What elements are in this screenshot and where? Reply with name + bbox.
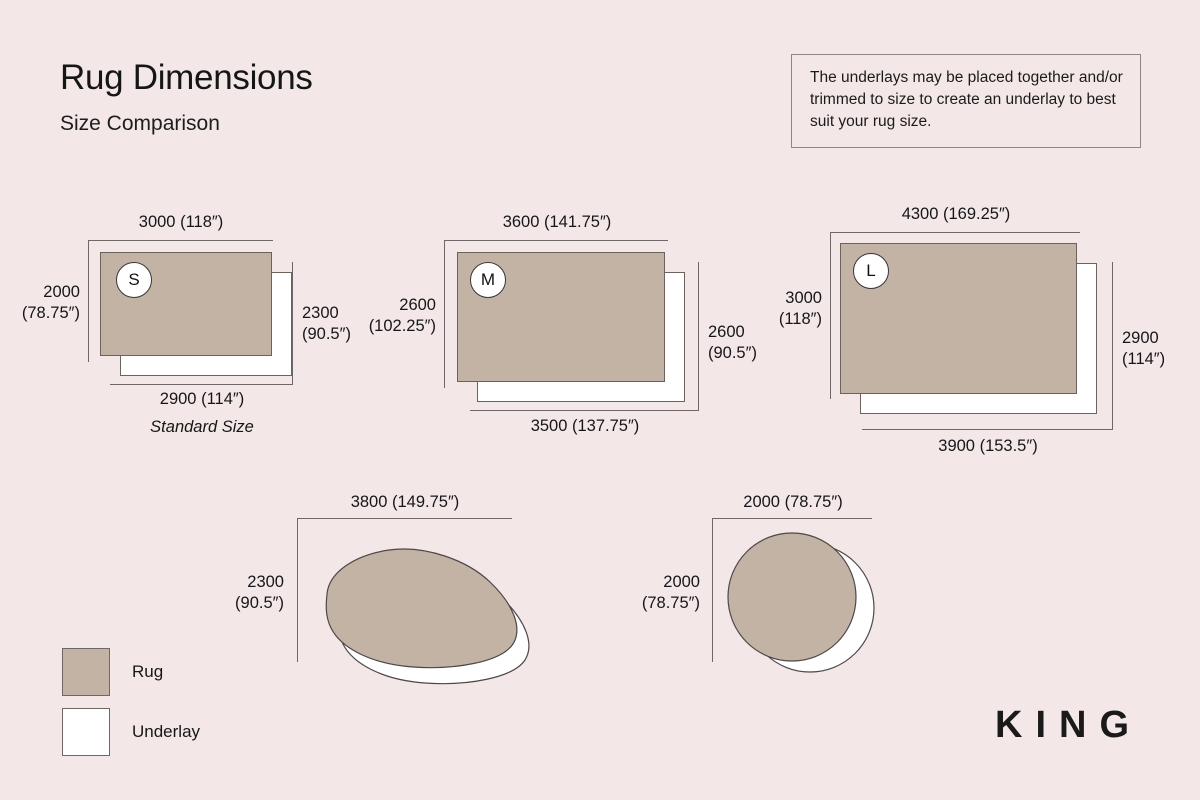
organic-width-bracket [297,518,512,519]
large-underlay-height-bracket [1112,262,1113,429]
large-underlay-width-bracket [862,429,1113,430]
round-width-text: 2000 (78.75″) [743,493,842,511]
small-rug-height-label: 2000 (78.75″) [0,282,80,324]
medium-underlay-width-bracket [470,410,699,411]
round-width-bracket [712,518,872,519]
legend-label-underlay: Underlay [132,722,200,742]
organic-width-label: 3800 (149.75″) [297,492,513,513]
large-underlay-height-line1: 2900 [1122,328,1200,349]
small-rug-height-line2: (78.75″) [0,303,80,324]
small-underlay-height-bracket [292,262,293,384]
legend-label-rug: Rug [132,662,163,682]
large-underlay-height-line2: (114″) [1122,349,1200,370]
large-underlay-width-label: 3900 (153.5″) [862,436,1114,457]
medium-underlay-height-bracket [698,262,699,410]
round-height-line2: (78.75″) [612,593,700,614]
small-rug-width-label: 3000 (118″) [88,212,274,233]
large-size-badge-label: L [866,261,875,281]
medium-underlay-width-text: 3500 (137.75″) [531,417,640,435]
small-standard-size-caption: Standard Size [110,418,294,437]
rug-dimensions-infographic: Rug Dimensions Size Comparison The under… [0,0,1200,800]
large-rug-height-bracket [830,232,831,399]
large-rug-height-line2: (118″) [740,309,822,330]
medium-rug-height-label: 2600 (102.25″) [348,295,436,337]
organic-width-text: 3800 (149.75″) [351,493,460,511]
round-height-line1: 2000 [612,572,700,593]
small-rug-height-line1: 2000 [0,282,80,303]
organic-height-line1: 2300 [198,572,284,593]
round-rug-illustration [722,528,902,678]
round-rug-shape [728,533,856,661]
medium-size-badge-label: M [481,270,495,290]
medium-rug-width-label: 3600 (141.75″) [444,212,670,233]
legend: Rug Underlay [62,648,200,768]
large-rug-height-label: 3000 (118″) [740,288,822,330]
medium-underlay-height-line2: (90.5″) [708,343,798,364]
organic-height-line2: (90.5″) [198,593,284,614]
small-rug-width-bracket [88,240,273,241]
medium-size-badge: M [470,262,506,298]
small-underlay-width-bracket [110,384,293,385]
large-underlay-height-label: 2900 (114″) [1122,328,1200,370]
large-underlay-width-text: 3900 (153.5″) [938,437,1037,455]
large-rug-width-bracket [830,232,1080,233]
large-size-badge: L [853,253,889,289]
medium-rug-height-line2: (102.25″) [348,316,436,337]
small-size-badge: S [116,262,152,298]
legend-item-rug: Rug [62,648,200,696]
medium-rug-height-line1: 2600 [348,295,436,316]
round-width-label: 2000 (78.75″) [712,492,874,513]
small-size-badge-label: S [128,270,139,290]
round-height-bracket [712,518,713,662]
medium-rug-width-bracket [444,240,668,241]
organic-height-bracket [297,518,298,662]
small-underlay-width-text: 2900 (114″) [160,390,244,408]
legend-item-underlay: Underlay [62,708,200,756]
round-height-label: 2000 (78.75″) [612,572,700,614]
medium-rug-height-bracket [444,240,445,388]
brand-logo-king: KING [995,704,1142,747]
large-rug-height-line1: 3000 [740,288,822,309]
medium-underlay-width-label: 3500 (137.75″) [470,416,700,437]
large-rug-width-label: 4300 (169.25″) [830,204,1082,225]
legend-swatch-underlay [62,708,110,756]
organic-height-label: 2300 (90.5″) [198,572,284,614]
small-rug-width-text: 3000 (118″) [139,213,223,231]
large-rug-width-text: 4300 (169.25″) [902,205,1011,223]
legend-swatch-rug [62,648,110,696]
medium-rug-width-text: 3600 (141.75″) [503,213,612,231]
small-underlay-width-label: 2900 (114″) [110,389,294,410]
small-caption-text: Standard Size [150,418,254,436]
small-rug-height-bracket [88,240,89,362]
